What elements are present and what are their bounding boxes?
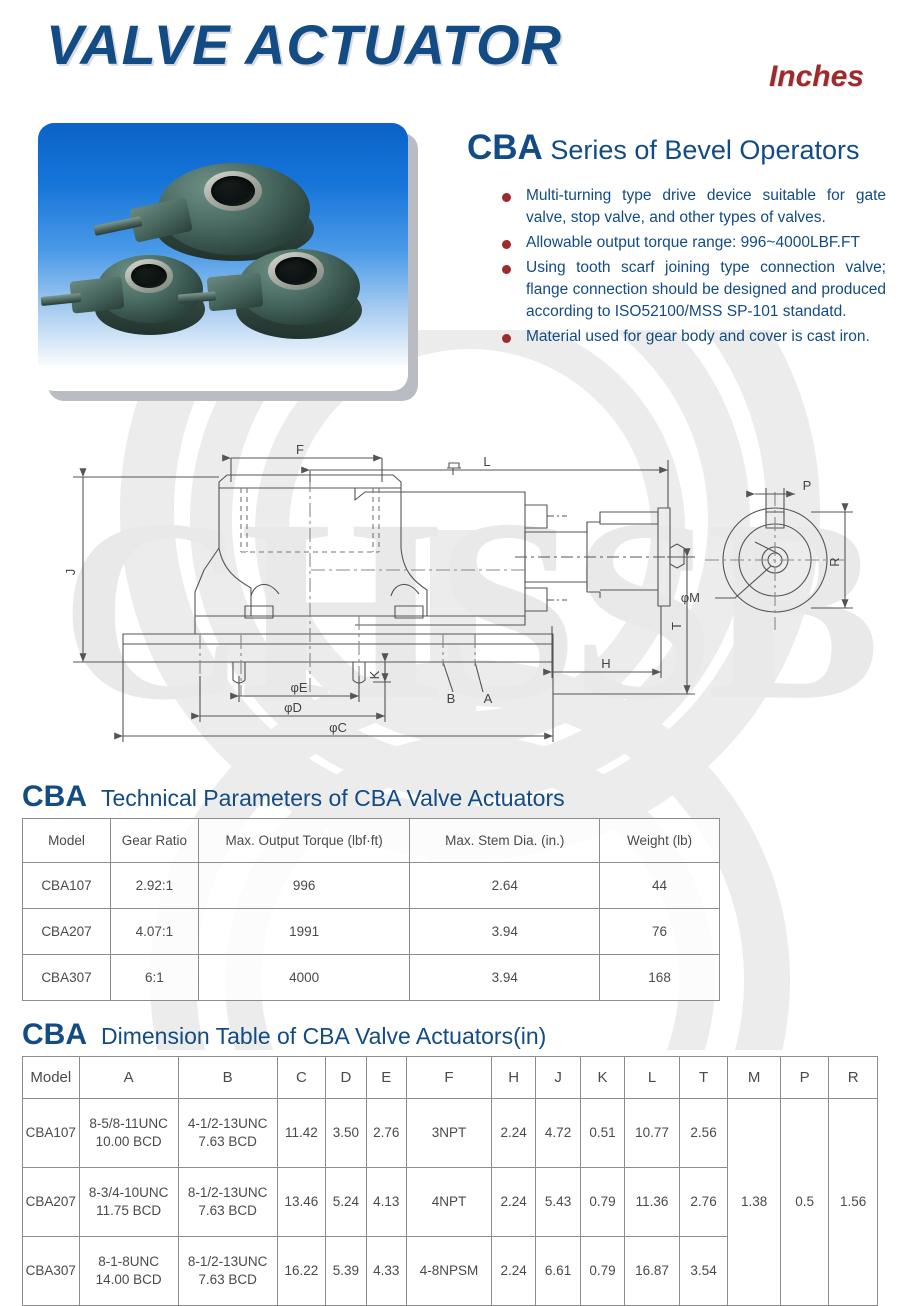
feature-item: Material used for gear body and cover is… <box>498 326 886 348</box>
photo-frame <box>38 123 408 391</box>
bullet-icon <box>502 334 511 343</box>
cell-h: 2.24 <box>491 1099 535 1168</box>
cell-b: 8-1/2-13UNC 7.63 BCD <box>178 1237 277 1306</box>
product-photo <box>38 123 408 391</box>
th-model: Model <box>23 819 111 863</box>
th-f: F <box>407 1057 492 1099</box>
th-d: D <box>326 1057 366 1099</box>
th-h: H <box>491 1057 535 1099</box>
th-weight: Weight (lb) <box>600 819 720 863</box>
feature-list: Multi-turning type drive device suitable… <box>498 185 886 351</box>
feature-item: Allowable output torque range: 996~4000L… <box>498 232 886 254</box>
cell-model: CBA307 <box>23 955 111 1001</box>
th-gear-ratio: Gear Ratio <box>110 819 198 863</box>
cell-p: 0.5 <box>780 1099 829 1306</box>
cell-model: CBA107 <box>23 863 111 909</box>
dim-label-t: T <box>669 622 684 630</box>
cell-model: CBA307 <box>23 1237 80 1306</box>
bullet-icon <box>502 240 511 249</box>
cell-model: CBA207 <box>23 1168 80 1237</box>
cell-m: 1.38 <box>728 1099 781 1306</box>
cell-k: 0.79 <box>580 1168 624 1237</box>
cell-b: 8-1/2-13UNC 7.63 BCD <box>178 1168 277 1237</box>
dim-label-j: J <box>63 569 78 576</box>
bullet-icon <box>502 193 511 202</box>
cell-l: 16.87 <box>625 1237 680 1306</box>
table-row: CBA107 2.92:1 996 2.64 44 <box>23 863 720 909</box>
cell-t: 2.76 <box>679 1168 728 1237</box>
cell-a: 8-1-8UNC 14.00 BCD <box>79 1237 178 1306</box>
tech-heading-code: CBA <box>22 780 87 813</box>
cell-t: 3.54 <box>679 1237 728 1306</box>
cell-h: 2.24 <box>491 1168 535 1237</box>
cell-stem: 3.94 <box>410 955 600 1001</box>
cell-f: 3NPT <box>407 1099 492 1168</box>
page-title: VALVE ACTUATOR <box>46 12 562 77</box>
tech-heading-title: Technical Parameters of CBA Valve Actuat… <box>101 785 565 811</box>
cell-j: 4.72 <box>536 1099 580 1168</box>
cell-weight: 168 <box>600 955 720 1001</box>
cell-j: 5.43 <box>536 1168 580 1237</box>
tech-parameters-heading: CBATechnical Parameters of CBA Valve Act… <box>22 780 565 814</box>
th-e: E <box>366 1057 406 1099</box>
cell-torque: 996 <box>198 863 410 909</box>
cell-stem: 3.94 <box>410 909 600 955</box>
feature-text: Material used for gear body and cover is… <box>526 326 886 348</box>
table-row: CBA107 8-5/8-11UNC 10.00 BCD 4-1/2-13UNC… <box>23 1099 878 1168</box>
cell-f: 4NPT <box>407 1168 492 1237</box>
th-t: T <box>679 1057 728 1099</box>
cell-b: 4-1/2-13UNC 7.63 BCD <box>178 1099 277 1168</box>
cell-ratio: 6:1 <box>110 955 198 1001</box>
dim-label-a: A <box>484 691 493 706</box>
th-l: L <box>625 1057 680 1099</box>
th-r: R <box>829 1057 878 1099</box>
feature-text: Using tooth scarf joining type connectio… <box>526 257 886 323</box>
cell-e: 4.33 <box>366 1237 406 1306</box>
cell-t: 2.56 <box>679 1099 728 1168</box>
dim-label-f: F <box>296 442 304 457</box>
bullet-icon <box>502 265 511 274</box>
th-stem-dia: Max. Stem Dia. (in.) <box>410 819 600 863</box>
th-a: A <box>79 1057 178 1099</box>
dim-label-r: R <box>827 557 842 566</box>
cell-d: 5.39 <box>326 1237 366 1306</box>
gearbox-right <box>206 245 366 343</box>
th-c: C <box>277 1057 326 1099</box>
cell-c: 16.22 <box>277 1237 326 1306</box>
cell-torque: 1991 <box>198 909 410 955</box>
cell-d: 3.50 <box>326 1099 366 1168</box>
feature-item: Using tooth scarf joining type connectio… <box>498 257 886 323</box>
cell-j: 6.61 <box>536 1237 580 1306</box>
cell-e: 4.13 <box>366 1168 406 1237</box>
cell-stem: 2.64 <box>410 863 600 909</box>
dim-label-phi-c: φC <box>329 720 347 735</box>
series-description: Series of Bevel Operators <box>543 135 860 165</box>
cell-r: 1.56 <box>829 1099 878 1306</box>
dimension-table: Model A B C D E F H J K L T M P R CBA107… <box>22 1056 878 1306</box>
cell-weight: 76 <box>600 909 720 955</box>
cell-f: 4-8NPSM <box>407 1237 492 1306</box>
cell-c: 13.46 <box>277 1168 326 1237</box>
cell-c: 11.42 <box>277 1099 326 1168</box>
cell-ratio: 4.07:1 <box>110 909 198 955</box>
table-row: CBA207 4.07:1 1991 3.94 76 <box>23 909 720 955</box>
cell-model: CBA107 <box>23 1099 80 1168</box>
th-k: K <box>580 1057 624 1099</box>
table-row: CBA307 6:1 4000 3.94 168 <box>23 955 720 1001</box>
dim-heading-title: Dimension Table of CBA Valve Actuators(i… <box>101 1023 546 1049</box>
th-p: P <box>780 1057 829 1099</box>
technical-parameters-table: Model Gear Ratio Max. Output Torque (lbf… <box>22 818 720 1001</box>
cell-torque: 4000 <box>198 955 410 1001</box>
cell-model: CBA207 <box>23 909 111 955</box>
dim-label-h: H <box>601 656 610 671</box>
th-b: B <box>178 1057 277 1099</box>
dim-label-phi-m: φM <box>681 590 700 605</box>
dim-label-p: P <box>803 478 812 493</box>
dim-label-k: K <box>367 670 382 679</box>
cell-ratio: 2.92:1 <box>110 863 198 909</box>
cell-a: 8-5/8-11UNC 10.00 BCD <box>79 1099 178 1168</box>
drawing-svg: F L J K φE φD φC A B H T P R φM <box>55 430 865 760</box>
feature-item: Multi-turning type drive device suitable… <box>498 185 886 229</box>
cell-weight: 44 <box>600 863 720 909</box>
cell-k: 0.51 <box>580 1099 624 1168</box>
dimension-table-heading: CBADimension Table of CBA Valve Actuator… <box>22 1018 546 1052</box>
cell-e: 2.76 <box>366 1099 406 1168</box>
table-header-row: Model A B C D E F H J K L T M P R <box>23 1057 878 1099</box>
dim-label-b: B <box>447 691 456 706</box>
cell-l: 11.36 <box>625 1168 680 1237</box>
cell-k: 0.79 <box>580 1237 624 1306</box>
th-model: Model <box>23 1057 80 1099</box>
cell-l: 10.77 <box>625 1099 680 1168</box>
dim-heading-code: CBA <box>22 1018 87 1051</box>
series-code: CBA <box>467 128 543 167</box>
th-m: M <box>728 1057 781 1099</box>
th-j: J <box>536 1057 580 1099</box>
cell-d: 5.24 <box>326 1168 366 1237</box>
table-header-row: Model Gear Ratio Max. Output Torque (lbf… <box>23 819 720 863</box>
engineering-drawing: F L J K φE φD φC A B H T P R φM <box>55 430 865 760</box>
cell-a: 8-3/4-10UNC 11.75 BCD <box>79 1168 178 1237</box>
datasheet-page: VALVE ACTUATOR Inches <box>0 0 900 1279</box>
dim-label-phi-d: φD <box>284 700 302 715</box>
dim-label-l: L <box>483 454 490 469</box>
dim-label-phi-e: φE <box>290 680 307 695</box>
unit-badge: Inches <box>769 60 864 94</box>
feature-text: Multi-turning type drive device suitable… <box>526 185 886 229</box>
feature-text: Allowable output torque range: 996~4000L… <box>526 232 886 254</box>
cell-h: 2.24 <box>491 1237 535 1306</box>
series-heading: CBA Series of Bevel Operators <box>467 128 859 168</box>
th-output-torque: Max. Output Torque (lbf·ft) <box>198 819 410 863</box>
